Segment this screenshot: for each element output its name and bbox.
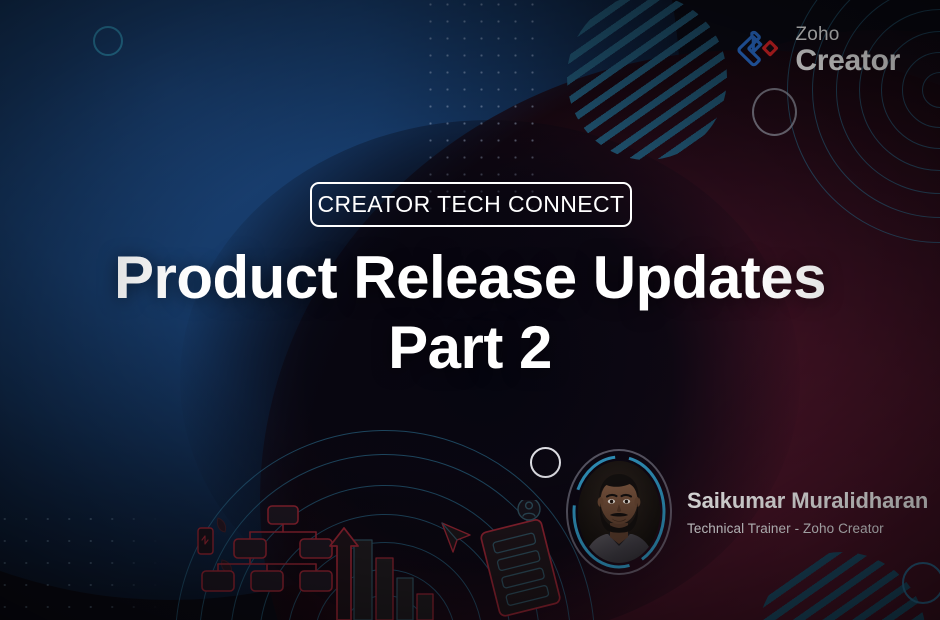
banner-canvas: Zoho Creator CREATOR TECH CONNECT Produc… [0, 0, 940, 620]
background-vignette [0, 0, 940, 620]
